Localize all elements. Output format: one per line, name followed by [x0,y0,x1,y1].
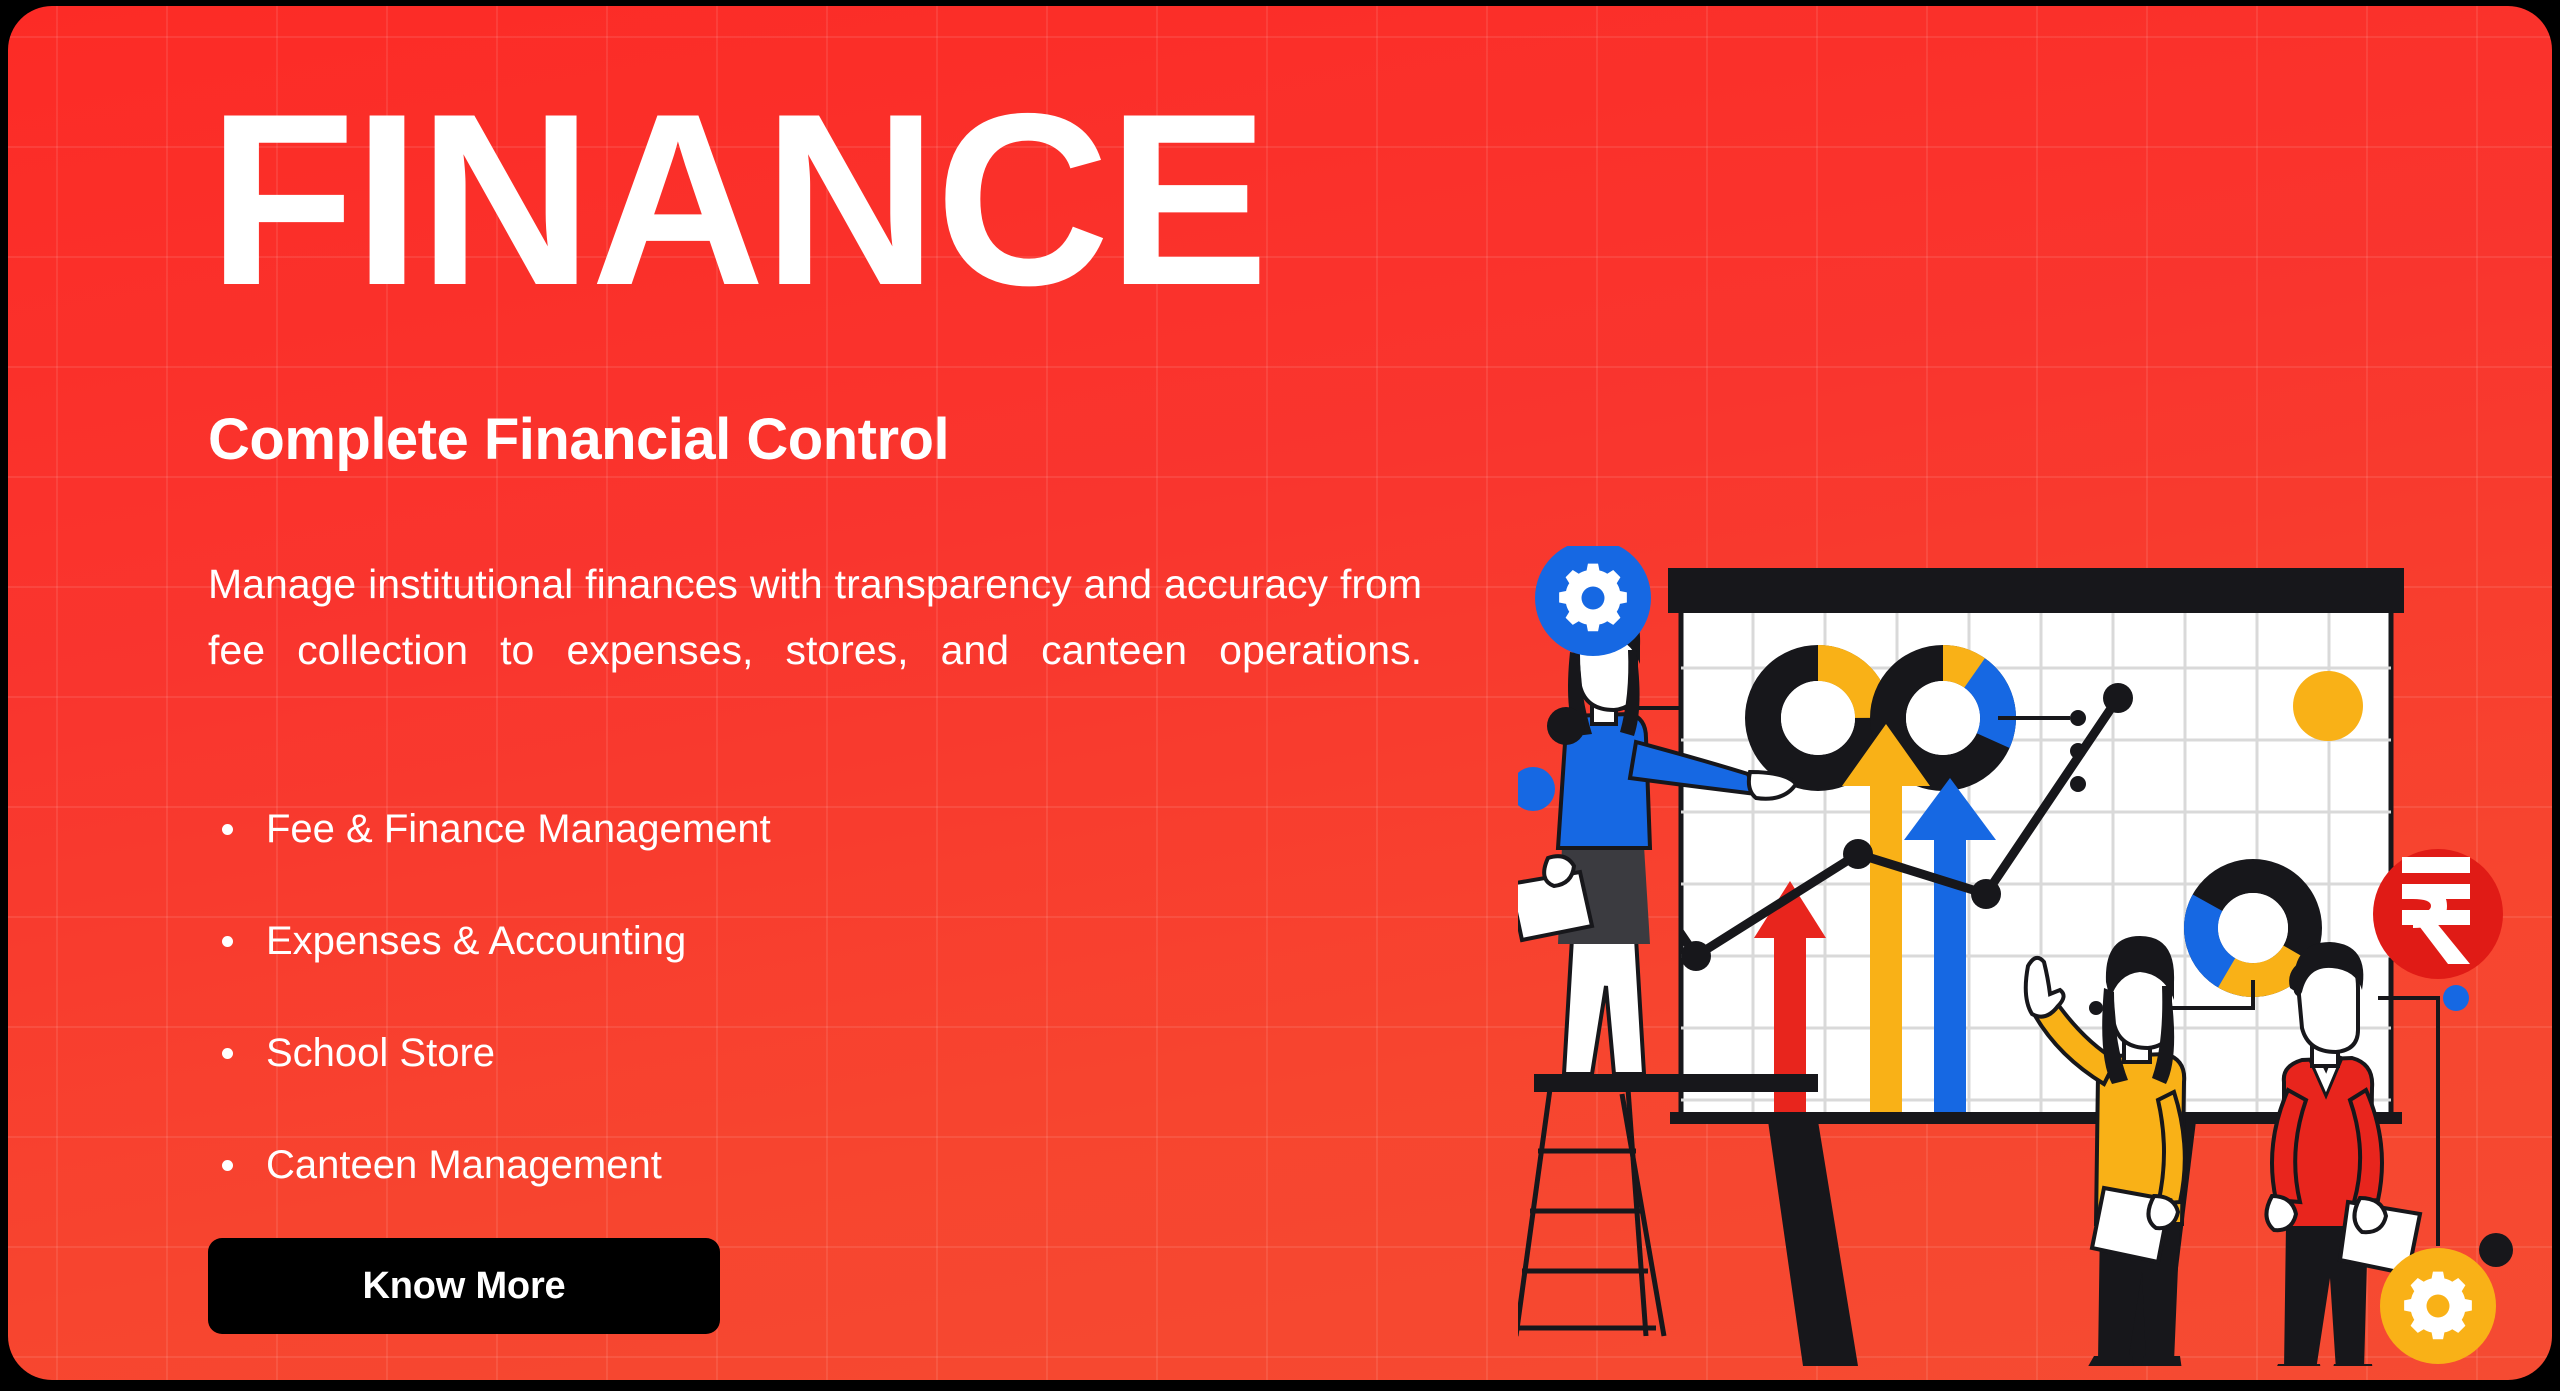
yellow-marker-dot [2293,671,2363,741]
finance-presentation-illustration [1518,546,2538,1366]
hero-content: FINANCE Complete Financial Control Manag… [208,6,1468,1380]
know-more-button[interactable]: Know More [208,1238,720,1334]
board-top-bar [1668,568,2404,613]
rupee-badge-red [2373,849,2503,979]
bullet-icon [222,1160,233,1171]
feature-label: Expenses & Accounting [266,919,686,963]
colleague-pointing-up [2026,936,2185,1366]
dot-black-tiny [2479,1233,2513,1267]
list-item: School Store [208,1030,1108,1076]
ladder-platform [1534,1074,1818,1092]
board-leg-left [1768,1121,1858,1366]
finance-hero-card: FINANCE Complete Financial Control Manag… [8,6,2552,1380]
leader-dot [2070,776,2086,792]
feature-label: Fee & Finance Management [266,807,771,851]
dot-blue-tiny [2443,985,2469,1011]
gear-icon [1559,564,1627,632]
feature-label: School Store [266,1031,495,1075]
page-title: FINANCE [208,92,1370,308]
gear-badge-yellow [2380,1248,2496,1364]
donut-chart-1 [1763,663,1873,773]
hero-subtitle: Complete Financial Control [208,406,949,473]
list-item: Expenses & Accounting [208,918,1108,964]
dot-blue-small [1518,767,1555,811]
leader-dot [2070,710,2086,726]
bullet-icon [222,824,233,835]
screenshot-root: FINANCE Complete Financial Control Manag… [0,0,2560,1391]
bullet-icon [222,936,233,947]
feature-label: Canteen Management [266,1143,662,1187]
dot-black-small [1547,707,1585,745]
hero-description: Manage institutional finances with trans… [208,551,1422,750]
feature-list: Fee & Finance Management Expenses & Acco… [208,806,1108,1254]
list-item: Fee & Finance Management [208,806,1108,852]
list-item: Canteen Management [208,1142,1108,1188]
bullet-icon [222,1048,233,1059]
step-ladder [1518,1089,1664,1336]
leader-dot [2089,1001,2103,1015]
gear-icon [2404,1272,2472,1340]
